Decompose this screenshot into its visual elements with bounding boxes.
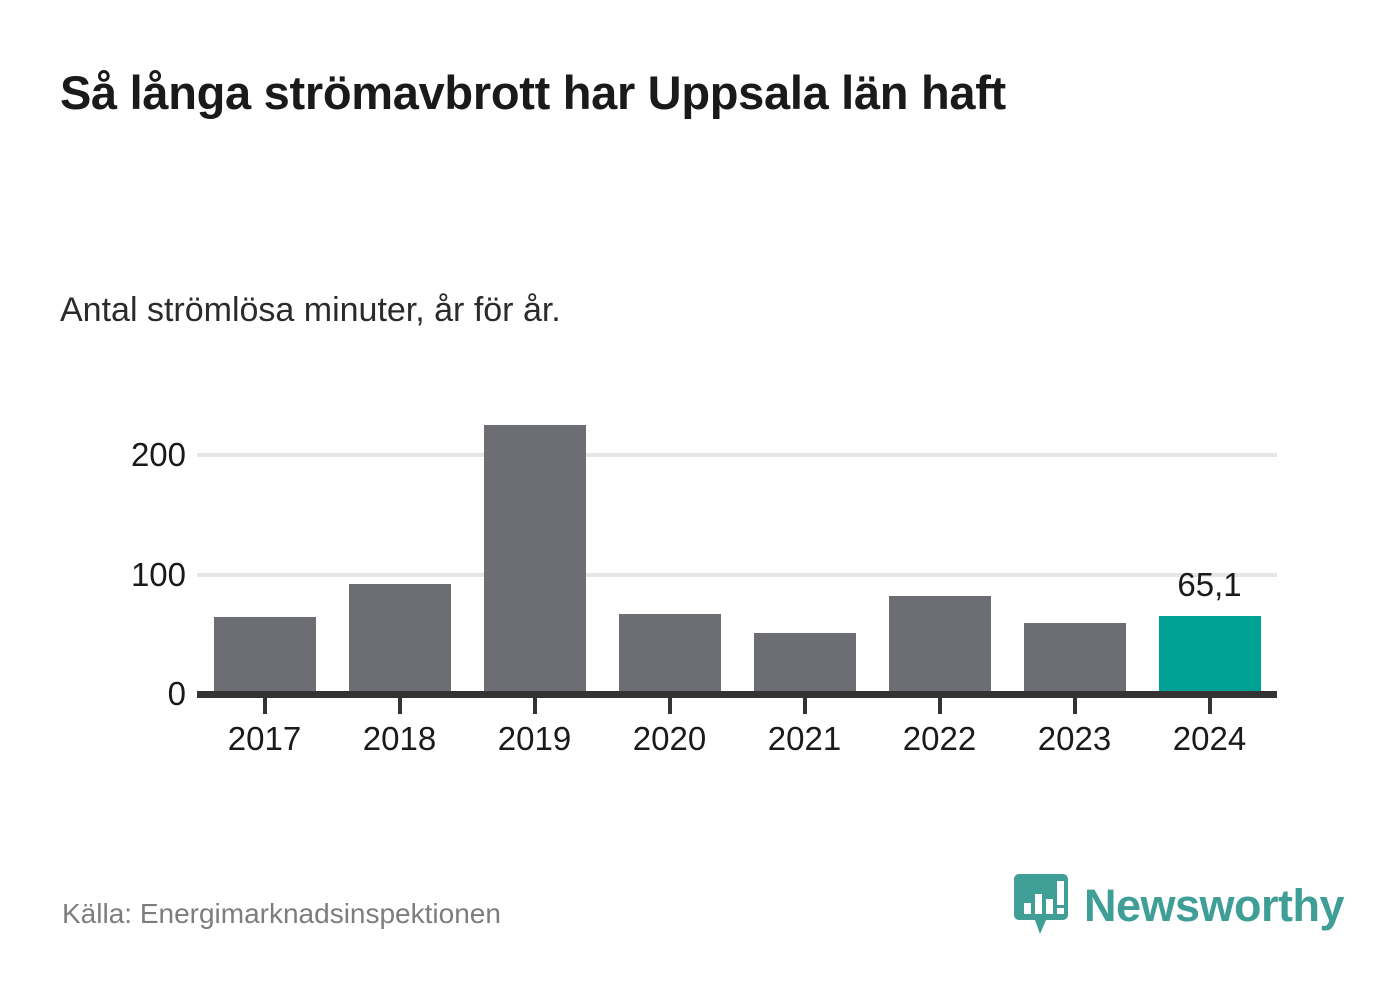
bar-2017[interactable] (214, 617, 316, 694)
x-axis-tick (398, 698, 402, 714)
gridline (197, 453, 1277, 457)
newsworthy-logo: Newsworthy (1012, 872, 1344, 938)
x-axis-tick-label-2023: 2023 (1007, 722, 1142, 755)
newsworthy-logo-text: Newsworthy (1084, 883, 1344, 928)
x-axis-tick-label-2017: 2017 (197, 722, 332, 755)
x-axis-tick-label-2024: 2024 (1142, 722, 1277, 755)
source-note: Källa: Energimarknadsinspektionen (62, 897, 501, 931)
x-axis-tick (668, 698, 672, 714)
bar-2020[interactable] (619, 614, 721, 694)
x-axis-tick-label-2018: 2018 (332, 722, 467, 755)
x-axis-tick (803, 698, 807, 714)
x-axis-tick (263, 698, 267, 714)
x-axis-tick (1208, 698, 1212, 714)
bar-2021[interactable] (754, 633, 856, 694)
x-axis-tick-label-2021: 2021 (737, 722, 872, 755)
bar-2024[interactable] (1159, 616, 1261, 694)
gridline (197, 573, 1277, 577)
x-axis-tick (533, 698, 537, 714)
bar-2023[interactable] (1024, 623, 1126, 694)
x-axis-tick (938, 698, 942, 714)
y-axis-tick-label: 0 (26, 677, 186, 710)
x-axis-tick-label-2022: 2022 (872, 722, 1007, 755)
x-axis-tick (1073, 698, 1077, 714)
bar-2019[interactable] (484, 425, 586, 694)
x-axis-tick-label-2020: 2020 (602, 722, 737, 755)
y-axis-tick-label: 100 (26, 558, 186, 591)
bar-value-label-2024: 65,1 (1120, 568, 1300, 601)
y-axis-tick-label: 200 (26, 438, 186, 471)
bar-2022[interactable] (889, 596, 991, 694)
bar-2018[interactable] (349, 584, 451, 694)
x-axis-line (197, 691, 1277, 698)
newsworthy-bars-bubble-icon (1012, 872, 1070, 938)
x-axis-tick-label-2019: 2019 (467, 722, 602, 755)
bar-chart: 0100200201720182019202020212022202365,12… (0, 0, 1382, 999)
chart-page: Så långa strömavbrott har Uppsala län ha… (0, 0, 1382, 999)
